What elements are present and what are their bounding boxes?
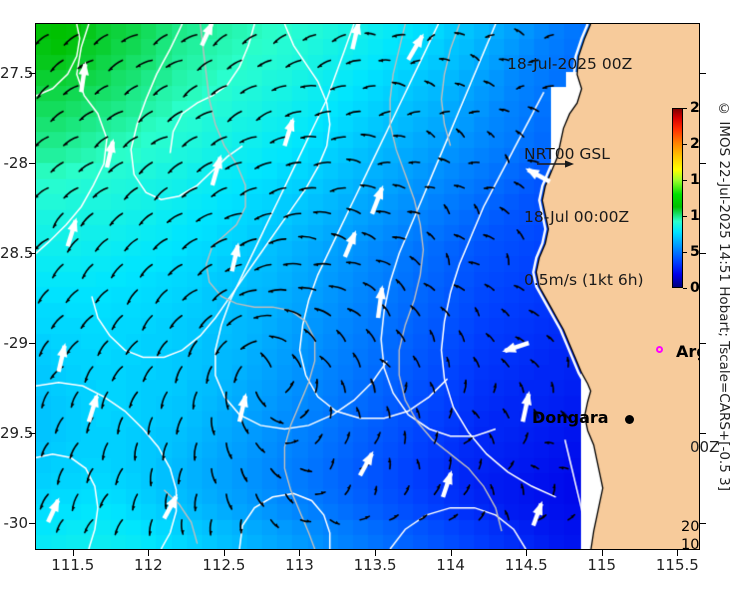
x-tick-mark [375,550,376,556]
y-tick-mark-right [700,163,706,164]
y-tick-mark-right [700,343,706,344]
depth-200m-label: 200m [681,518,700,536]
colorbar-tick-mark [683,144,687,145]
y-tick-mark [29,253,35,254]
x-tick-mark [526,550,527,556]
model-time-label: 18-Jul 00:00Z [524,207,644,228]
colorbar-tick-mark [683,216,687,217]
map-plot-area[interactable]: 18-Jul-2025 00Z NRT00 GSL 18-Jul 00:00Z … [35,23,700,550]
x-tick-label: 114.5 [505,556,548,574]
colorbar-tick-label: 20 [690,136,700,152]
y-tick-mark [29,433,35,434]
colorbar-tick-label: 15 [690,172,700,188]
y-tick-label: 29.5 [0,424,28,442]
dongara-marker-icon [625,415,634,424]
colorbar-tick-label: 0 [690,280,700,296]
x-tick-label: 111.5 [51,556,94,574]
x-tick-mark [451,550,452,556]
y-tick-mark [29,73,35,74]
y-tick-mark [29,523,35,524]
colorbar-tick-mark [683,288,687,289]
y-tick-label: -29 [0,334,28,352]
y-tick-mark-right [700,73,706,74]
y-tick-mark [29,163,35,164]
x-tick-mark [148,550,149,556]
reference-current-arrow [536,155,576,167]
x-tick-label: 114 [436,556,465,574]
colorbar: 0510152025 [672,108,683,288]
x-tick-label: 115.5 [656,556,699,574]
y-tick-label: -30 [0,514,28,532]
y-tick-label: 28.5 [0,244,28,262]
colorbar-tick-mark [683,252,687,253]
x-tick-mark [224,550,225,556]
depth-1000m-label: 1000m [681,536,700,550]
y-tick-mark-right [700,433,706,434]
x-tick-label: 112 [134,556,163,574]
current-scale-label: 0.5m/s (1kt 6h) [524,270,644,291]
y-tick-mark [29,343,35,344]
clipped-time-label: 00Z [690,438,719,456]
model-info-block: NRT00 GSL 18-Jul 00:00Z 0.5m/s (1kt 6h) [524,102,644,333]
y-tick-label: -28 [0,154,28,172]
colorbar-tick-label: 10 [690,208,700,224]
depth-contour-legend: 200m 1000m [681,518,700,550]
copyright-credit: © IMOS 22-Jul-2025 14:51 Hobart; Tscale=… [716,101,732,491]
x-tick-mark [73,550,74,556]
argo-marker-icon [656,346,663,353]
x-tick-label: 113.5 [354,556,397,574]
colorbar-tick-mark [683,108,687,109]
x-tick-mark [299,550,300,556]
date-stamp-label: 18-Jul-2025 00Z [507,55,632,73]
y-tick-mark-right [700,253,706,254]
colorbar-gradient [672,108,683,288]
argo-label: Argo [676,342,700,361]
colorbar-tick-label: 5 [690,244,700,260]
y-tick-label: 27.5 [0,64,28,82]
x-tick-label: 113 [285,556,314,574]
x-tick-label: 115 [587,556,616,574]
y-tick-mark-right [700,523,706,524]
x-tick-mark [677,550,678,556]
colorbar-tick-label: 25 [690,100,700,116]
dongara-label: Dongara [532,408,609,427]
x-tick-label: 112.5 [202,556,245,574]
x-tick-mark [602,550,603,556]
colorbar-tick-mark [683,180,687,181]
